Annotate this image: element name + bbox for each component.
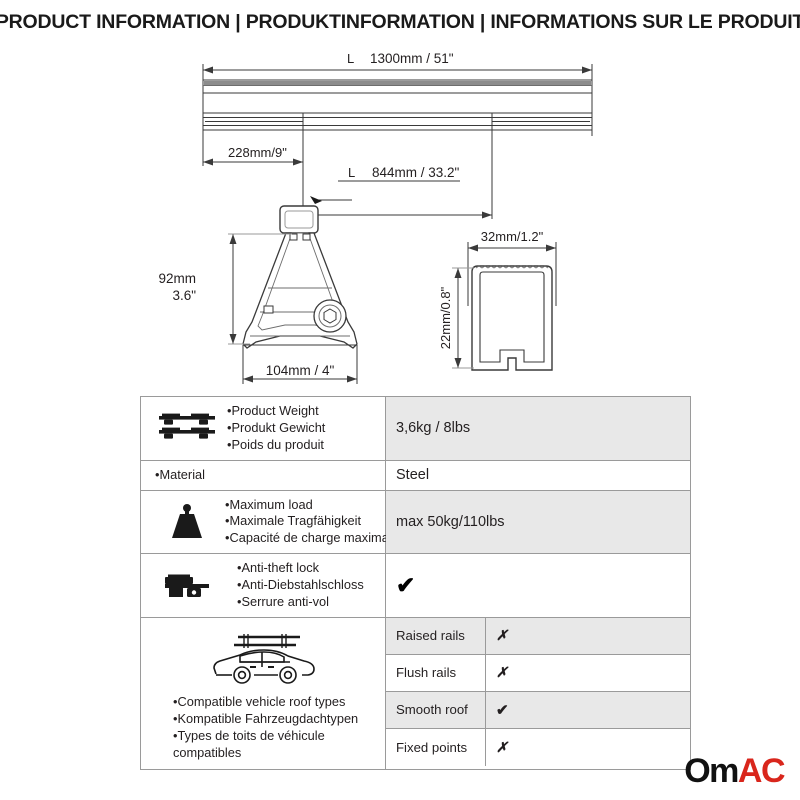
roof-types-label-cell: •Compatible vehicle roof types •Kompatib… <box>141 618 386 770</box>
profile-height-value: 22mm/0.8" <box>438 286 453 349</box>
spec-label-line: •Capacité de charge maximale <box>225 530 399 547</box>
spec-label-text: •Maximum load •Maximale Tragfähigkeit •C… <box>225 497 399 548</box>
spec-label-line: •Anti-Diebstahlschloss <box>237 577 364 594</box>
profile-width-value: 32mm/1.2" <box>481 229 544 244</box>
roof-type-mark: ✗ <box>486 655 690 691</box>
spec-label-cell: •Anti-theft lock •Anti-Diebstahlschloss … <box>141 554 386 617</box>
roof-type-row-raised-rails: Raised rails ✗ <box>386 618 690 655</box>
roof-types-matrix: Raised rails ✗ Flush rails ✗ Smooth roof… <box>386 618 690 770</box>
roof-label-line: •Types de toits de véhicule compatibles <box>173 728 379 762</box>
foot-offset-value: 228mm/9" <box>228 145 287 160</box>
spec-label-cell: •Material <box>141 461 386 490</box>
roof-type-name: Fixed points <box>386 729 486 766</box>
roof-types-label-text: •Compatible vehicle roof types •Kompatib… <box>149 694 379 762</box>
spec-label-line: •Serrure anti-vol <box>237 594 364 611</box>
weight-icon <box>149 502 225 542</box>
span-label: L <box>348 165 355 180</box>
span-value: 844mm / 33.2" <box>372 165 460 180</box>
overall-length-label: L <box>347 51 354 66</box>
spec-label-line: •Produkt Gewicht <box>227 420 325 437</box>
spec-label-cell: •Maximum load •Maximale Tragfähigkeit •C… <box>141 491 386 554</box>
omac-logo: OmAC <box>684 754 784 788</box>
roof-label-line: •Compatible vehicle roof types <box>173 694 379 711</box>
maximum-load-value: max 50kg/110lbs <box>386 491 690 554</box>
foot-width-value: 104mm / 4" <box>266 363 335 378</box>
spec-label-line: •Poids du produit <box>227 437 325 454</box>
spec-label-text: •Product Weight •Produkt Gewicht •Poids … <box>227 403 325 454</box>
roof-type-row-flush-rails: Flush rails ✗ <box>386 655 690 692</box>
roof-label-line: •Kompatible Fahrzeugdachtypen <box>173 711 379 728</box>
lock-icon <box>149 569 225 603</box>
roof-type-row-fixed-points: Fixed points ✗ <box>386 729 690 766</box>
table-row: •Anti-theft lock •Anti-Diebstahlschloss … <box>141 554 690 618</box>
spec-label-line: •Anti-theft lock <box>237 560 364 577</box>
page-header: PRODUCT INFORMATION | PRODUKTINFORMATION… <box>0 0 800 44</box>
logo-text-accent: AC <box>738 754 784 788</box>
roof-type-name: Flush rails <box>386 655 486 691</box>
table-row: •Product Weight •Produkt Gewicht •Poids … <box>141 397 690 461</box>
check-icon: ✔ <box>496 701 509 719</box>
roof-type-name: Raised rails <box>386 618 486 654</box>
specification-table: •Product Weight •Produkt Gewicht •Poids … <box>140 396 691 770</box>
roof-type-mark: ✔ <box>486 692 690 728</box>
foot-height-line1: 92mm <box>158 271 196 286</box>
table-row-roof-types: •Compatible vehicle roof types •Kompatib… <box>141 618 690 770</box>
page-title: PRODUCT INFORMATION | PRODUKTINFORMATION… <box>0 11 800 34</box>
table-row: •Maximum load •Maximale Tragfähigkeit •C… <box>141 491 690 555</box>
spec-label-line: •Maximum load <box>225 497 399 514</box>
car-with-roof-rack-icon <box>149 624 379 686</box>
roof-type-mark: ✗ <box>486 618 690 654</box>
spec-label-cell: •Product Weight •Produkt Gewicht •Poids … <box>141 397 386 460</box>
cross-icon: ✗ <box>496 627 508 644</box>
product-weight-value: 3,6kg / 8lbs <box>386 397 690 460</box>
spec-label-line: •Maximale Tragfähigkeit <box>225 513 399 530</box>
logo-text-primary: Om <box>684 754 738 788</box>
roof-type-row-smooth-roof: Smooth roof ✔ <box>386 692 690 729</box>
spec-label-text: •Anti-theft lock •Anti-Diebstahlschloss … <box>237 560 364 611</box>
table-row: •Material Steel <box>141 461 690 491</box>
cross-icon: ✗ <box>496 739 508 756</box>
technical-drawing-area: L 1300mm / 51" 228mm/9" L 844mm / 33.2" … <box>0 44 800 389</box>
anti-theft-lock-value: ✔ <box>386 554 690 617</box>
foot-height-line2: 3.6" <box>172 288 196 303</box>
crossbars-icon <box>149 411 225 445</box>
spec-label-line: •Product Weight <box>227 403 325 420</box>
roof-type-name: Smooth roof <box>386 692 486 728</box>
cross-icon: ✗ <box>496 664 508 681</box>
roof-type-mark: ✗ <box>486 729 690 766</box>
check-icon: ✔ <box>396 574 415 597</box>
overall-length-value: 1300mm / 51" <box>370 51 454 66</box>
material-value: Steel <box>386 461 690 490</box>
spec-label-line: •Material <box>155 467 205 484</box>
spec-label-text: •Material <box>155 467 205 484</box>
